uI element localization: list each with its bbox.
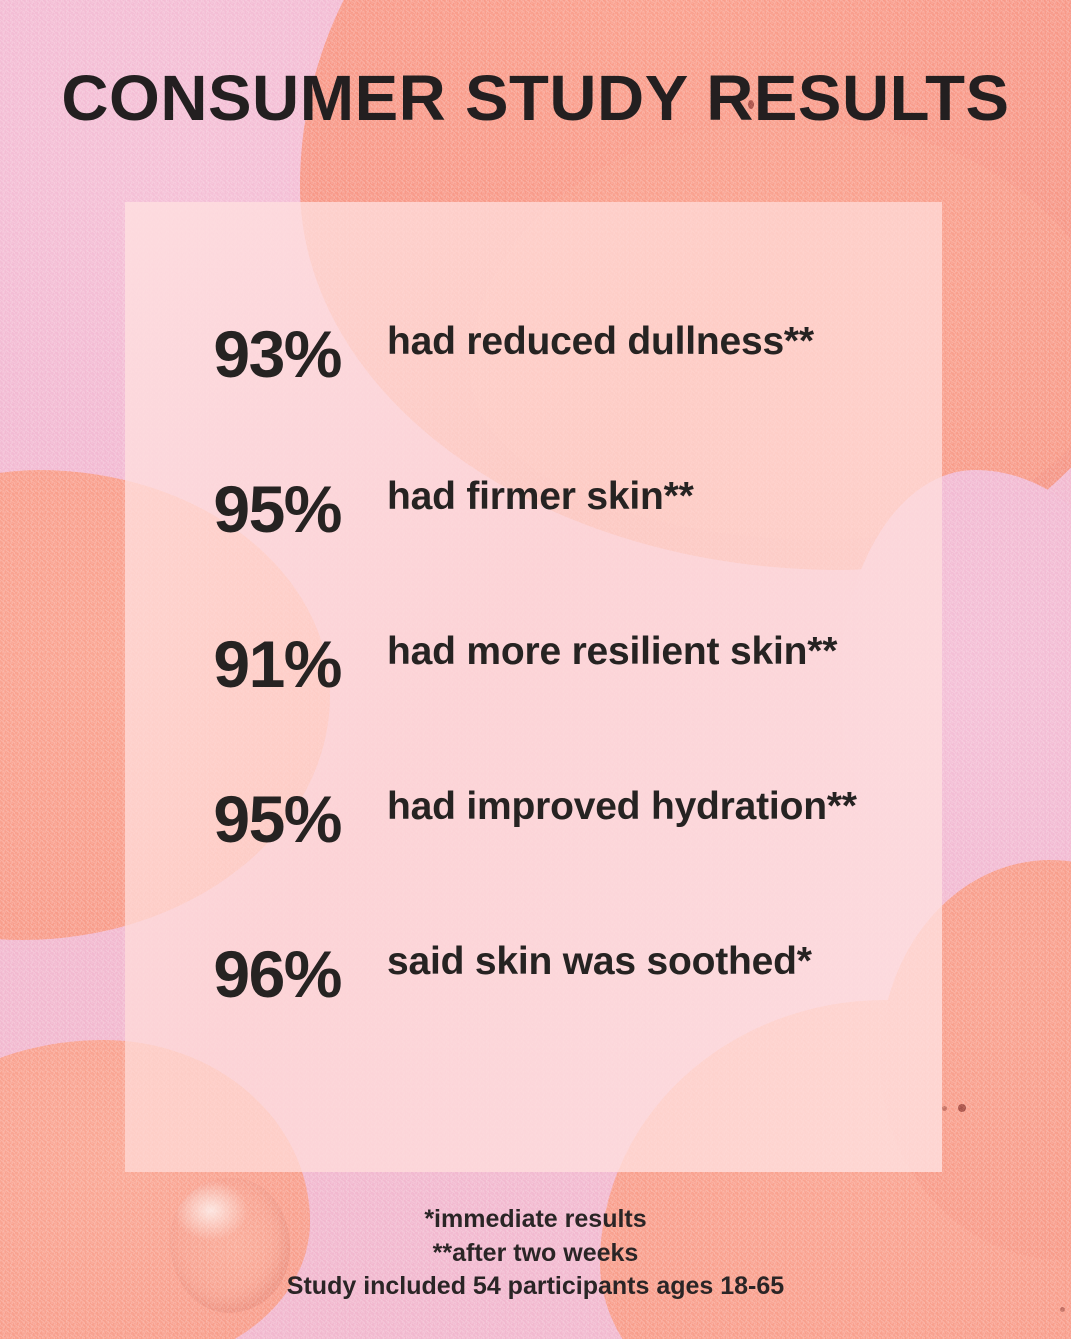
stat-label: had firmer skin** — [387, 470, 942, 524]
stats-list: 93% had reduced dullness** 95% had firme… — [125, 315, 942, 1090]
stat-row: 95% had firmer skin** — [125, 470, 942, 625]
stat-percent: 95% — [125, 470, 387, 542]
speck-icon — [942, 1106, 947, 1111]
page-title: CONSUMER STUDY RESULTS — [0, 66, 1071, 130]
stat-row: 93% had reduced dullness** — [125, 315, 942, 470]
stat-percent: 91% — [125, 625, 387, 697]
stat-percent: 95% — [125, 780, 387, 852]
footnote-line-2: **after two weeks — [0, 1237, 1071, 1271]
poster-root: CONSUMER STUDY RESULTS 93% had reduced d… — [0, 0, 1071, 1339]
speck-icon — [1060, 1307, 1065, 1312]
speck-icon — [958, 1104, 966, 1112]
stat-percent: 96% — [125, 935, 387, 1007]
stat-label: had improved hydration** — [387, 780, 942, 834]
stat-row: 96% said skin was soothed* — [125, 935, 942, 1090]
stat-label: had more resilient skin** — [387, 625, 942, 679]
stat-label: had reduced dullness** — [387, 315, 942, 369]
stat-percent: 93% — [125, 315, 387, 387]
footnotes: *immediate results **after two weeks Stu… — [0, 1203, 1071, 1304]
stat-row: 91% had more resilient skin** — [125, 625, 942, 780]
footnote-line-1: *immediate results — [0, 1203, 1071, 1237]
stat-label: said skin was soothed* — [387, 935, 942, 989]
stat-row: 95% had improved hydration** — [125, 780, 942, 935]
footnote-line-3: Study included 54 participants ages 18-6… — [0, 1270, 1071, 1304]
